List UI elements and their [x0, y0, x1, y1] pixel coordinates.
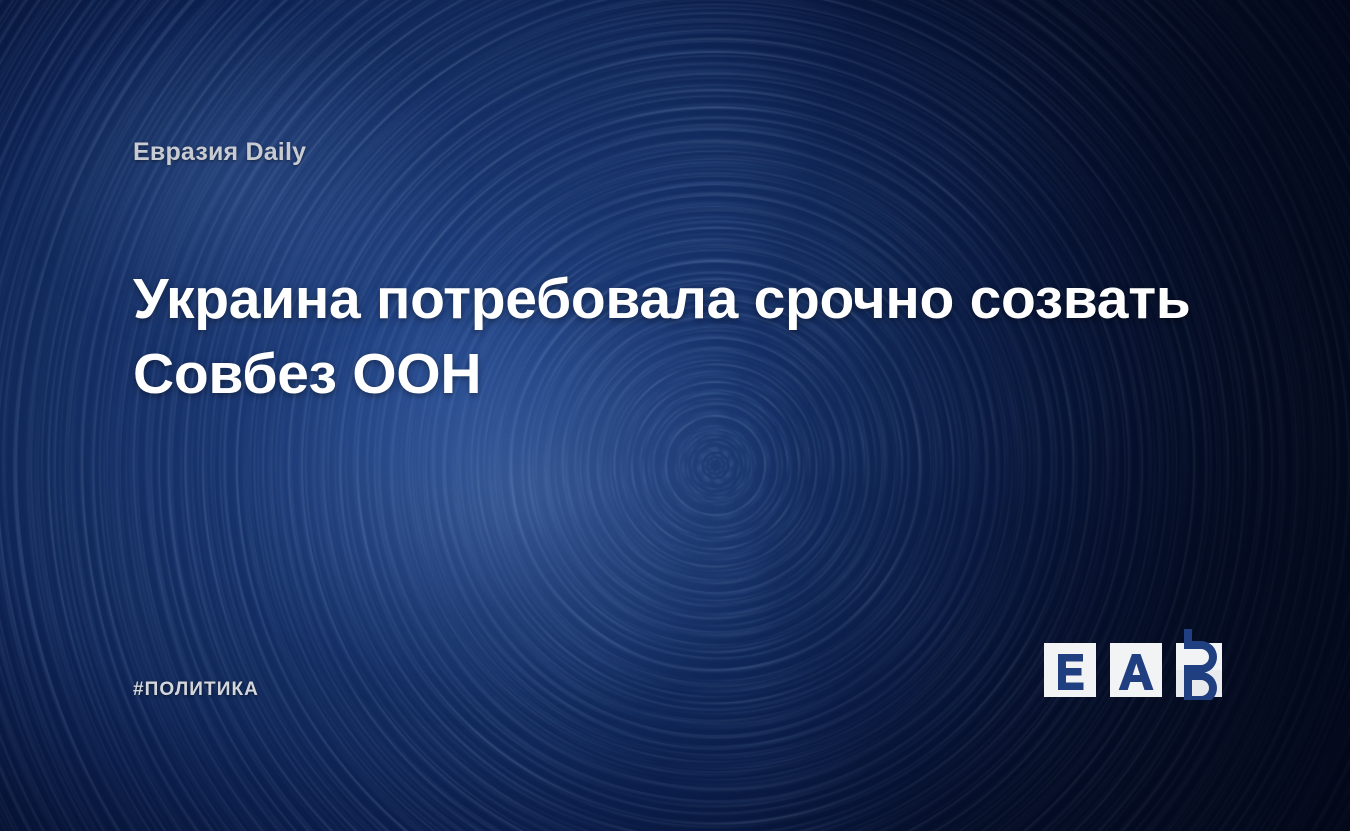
topic-hashtag: #ПОЛИТИКА: [133, 679, 259, 701]
news-share-card: Евразия Daily Украина потребовала срочно…: [0, 0, 1350, 831]
logo-tile-a: [1110, 643, 1162, 697]
card-content: Евразия Daily Украина потребовала срочно…: [0, 0, 1350, 831]
headline: Украина потребовала срочно созвать Совбе…: [133, 262, 1193, 412]
logo-letter-e: [1058, 654, 1084, 690]
brand-name: Евразия Daily: [133, 138, 306, 167]
eadaily-logo: [1044, 628, 1224, 700]
eadaily-logo-mark: [1044, 628, 1224, 700]
